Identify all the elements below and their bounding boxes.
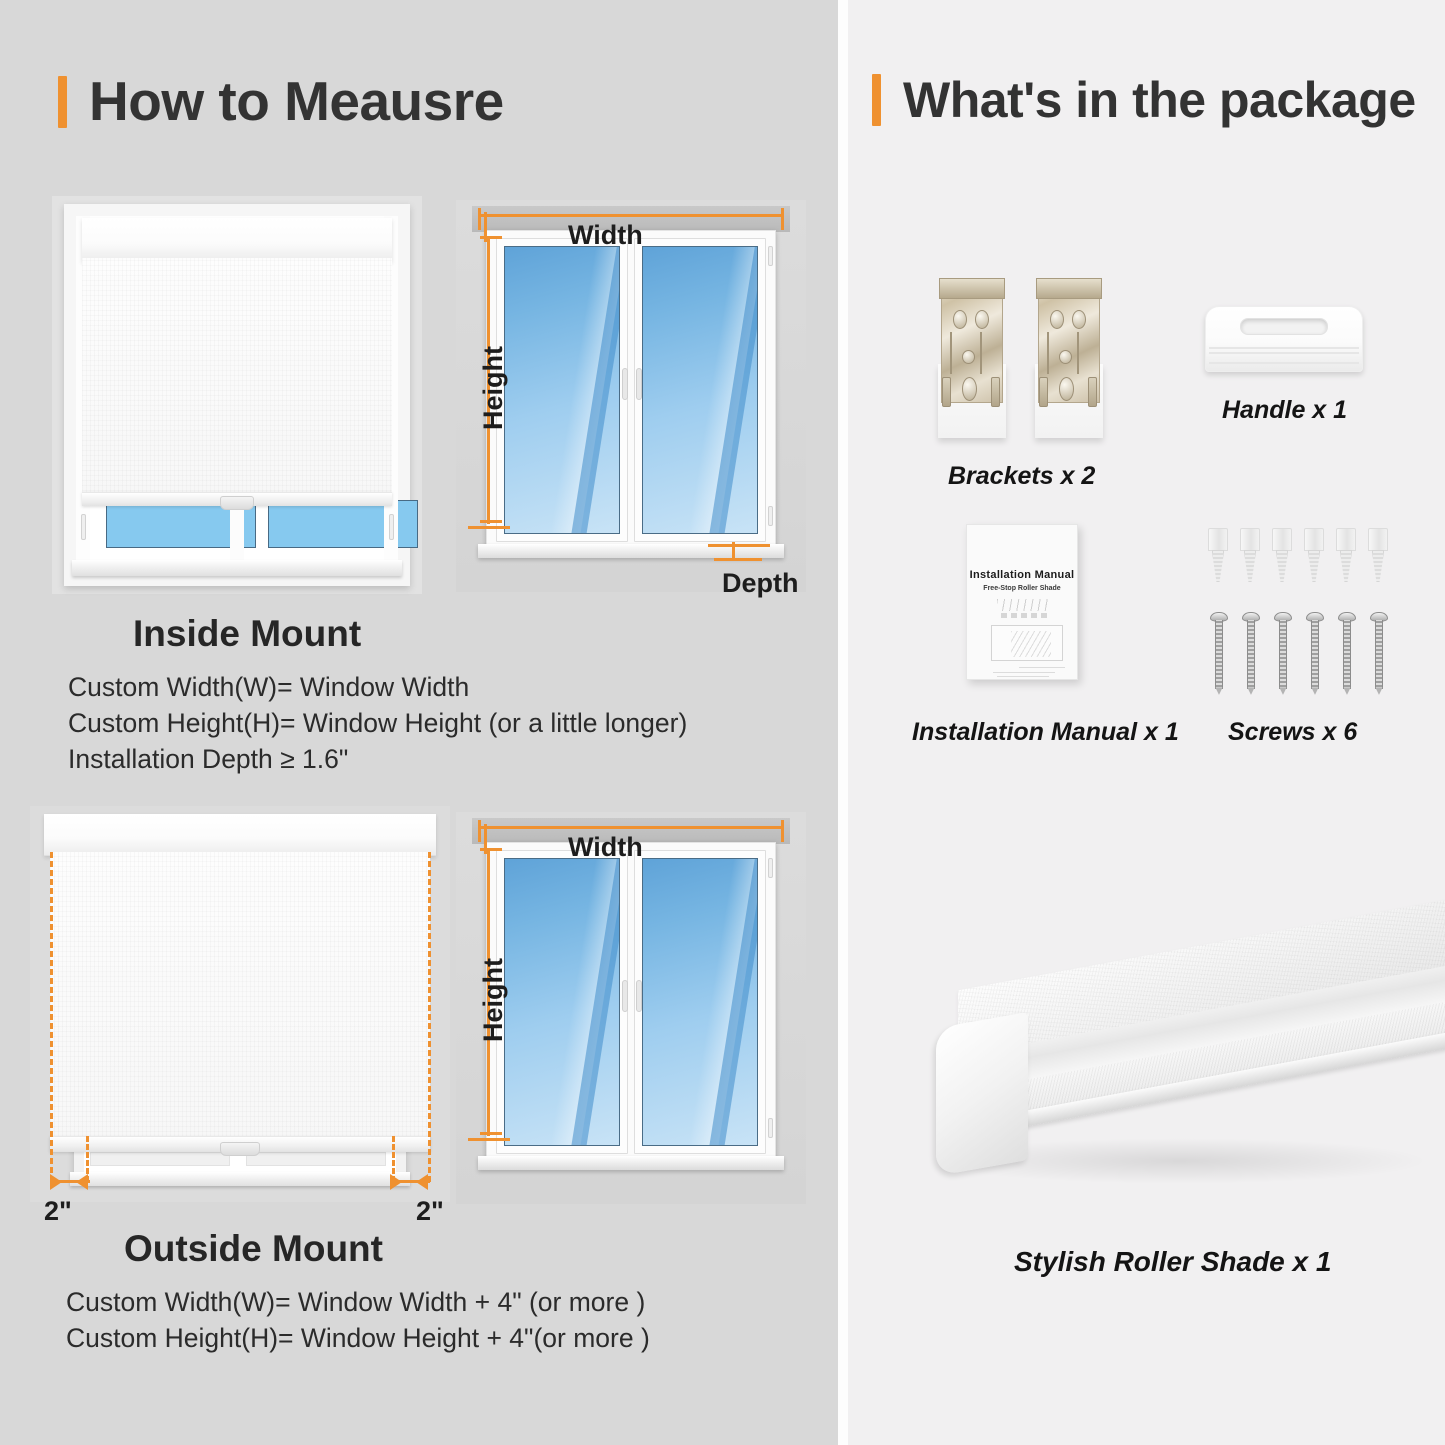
screw-icon — [1242, 612, 1260, 694]
handle-label: Handle x 1 — [1222, 396, 1347, 425]
wall-anchor-icon — [1272, 528, 1292, 582]
manual-icon: Installation Manual Free-Stop Roller Sha… — [966, 524, 1078, 680]
screw-icon — [1210, 612, 1228, 694]
brackets-label: Brackets x 2 — [948, 462, 1095, 491]
inside-mount-instructions: Custom Width(W)= Window Width Custom Hei… — [68, 669, 687, 777]
wall-anchor-icon — [1336, 528, 1356, 582]
wall-anchor-icon — [1240, 528, 1260, 582]
inside-mount-line-3: Installation Depth ≥ 1.6" — [68, 741, 687, 777]
height-label-outside: Height — [478, 958, 509, 1042]
screws-label: Screws x 6 — [1228, 718, 1357, 747]
depth-label-inside: Depth — [722, 568, 799, 599]
accent-bar-icon — [58, 76, 67, 128]
wall-anchor-icon — [1208, 528, 1228, 582]
screw-icon — [1338, 612, 1356, 694]
panel-divider — [838, 0, 848, 1445]
screw-icon — [1274, 612, 1292, 694]
infographic-root: How to Meausre What's in the package — [0, 0, 1445, 1445]
bracket-icon — [938, 278, 1006, 438]
wall-anchor-icon — [1304, 528, 1324, 582]
screw-icon — [1306, 612, 1324, 694]
handle-icon — [1205, 306, 1363, 372]
outside-mount-shade-illustration — [30, 806, 450, 1202]
inside-mount-line-1: Custom Width(W)= Window Width — [68, 669, 687, 705]
manual-cover-subtitle: Free-Stop Roller Shade — [967, 585, 1077, 592]
manual-label: Installation Manual x 1 — [912, 718, 1179, 747]
roller-shade-icon — [900, 880, 1445, 1210]
outside-mount-title: Outside Mount — [124, 1228, 383, 1270]
bracket-icon — [1035, 278, 1103, 438]
inside-mount-shade-illustration — [52, 196, 422, 594]
roller-shade-label: Stylish Roller Shade x 1 — [1014, 1246, 1331, 1278]
inside-mount-title: Inside Mount — [133, 613, 361, 655]
window-dimension-diagram-outside: Width Height — [456, 812, 806, 1204]
wall-anchor-icon — [1368, 528, 1388, 582]
screw-icon — [1370, 612, 1388, 694]
overhang-right-label: 2" — [416, 1196, 444, 1227]
overhang-left-label: 2" — [44, 1196, 72, 1227]
outside-mount-line-2: Custom Height(H)= Window Height + 4"(or … — [66, 1320, 650, 1356]
manual-cover-title: Installation Manual — [967, 569, 1077, 581]
page-title-left: How to Meausre — [89, 74, 504, 129]
width-label-outside: Width — [568, 832, 643, 863]
width-label-inside: Width — [568, 220, 643, 251]
outside-mount-line-1: Custom Width(W)= Window Width + 4" (or m… — [66, 1284, 650, 1320]
window-dimension-diagram-inside: Width Height Depth — [456, 200, 806, 592]
outside-mount-instructions: Custom Width(W)= Window Width + 4" (or m… — [66, 1284, 650, 1356]
how-to-measure-heading: How to Meausre — [58, 74, 504, 129]
accent-bar-icon — [872, 74, 881, 126]
height-label-inside: Height — [478, 346, 509, 430]
inside-mount-line-2: Custom Height(H)= Window Height (or a li… — [68, 705, 687, 741]
package-heading: What's in the package — [872, 74, 1416, 126]
page-title-right: What's in the package — [903, 75, 1416, 125]
